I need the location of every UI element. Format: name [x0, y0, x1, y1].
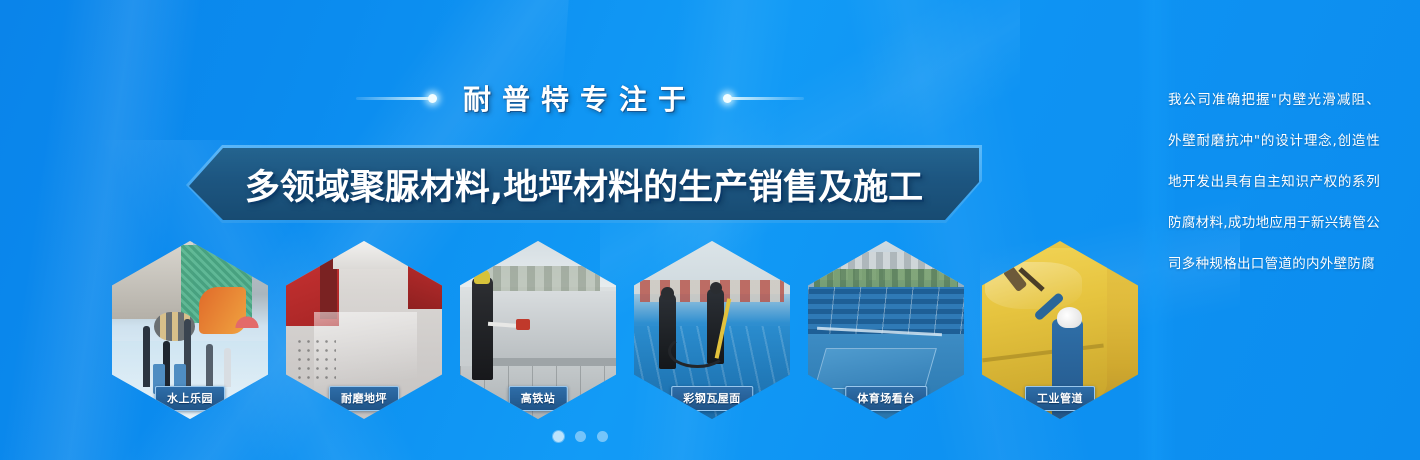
hexagon-item-stadium-seating[interactable]: 体育场看台	[808, 241, 964, 419]
decorative-line-right	[723, 94, 804, 103]
headline-row: 耐普特专注于	[0, 76, 1160, 120]
hexagon-label: 工业管道	[1025, 386, 1095, 411]
hexagon-label: 水上乐园	[155, 386, 225, 411]
decorative-line-left	[356, 94, 437, 103]
carousel-dot-2[interactable]	[575, 431, 586, 442]
carousel-dot-3[interactable]	[597, 431, 608, 442]
headline-text: 耐普特专注于	[463, 78, 697, 118]
hexagon-item-industrial-pipe[interactable]: 工业管道	[982, 241, 1138, 419]
hexagon-label: 高铁站	[509, 386, 568, 411]
hexagon-item-steel-roof[interactable]: 彩钢瓦屋面	[634, 241, 790, 419]
slogan-text: 多领域聚脲材料,地坪材料的生产销售及施工	[189, 148, 979, 220]
hexagon-item-rail-station[interactable]: 高铁站	[460, 241, 616, 419]
decorative-bar-icon	[356, 97, 430, 100]
promo-banner: 耐普特专注于 多领域聚脲材料,地坪材料的生产销售及施工 我公司准确把握"内壁光滑…	[0, 0, 1420, 460]
decorative-dot-icon	[428, 94, 437, 103]
hexagon-item-water-park[interactable]: 水上乐园	[112, 241, 268, 419]
decorative-bar-icon	[730, 97, 804, 100]
carousel-dots	[0, 431, 1160, 442]
hexagon-item-epoxy-floor[interactable]: 耐磨地坪	[286, 241, 442, 419]
hexagon-label: 彩钢瓦屋面	[671, 386, 753, 411]
hexagon-label: 耐磨地坪	[329, 386, 399, 411]
hexagon-gallery: 水上乐园 耐磨地坪 高铁站 彩钢瓦屋面	[112, 241, 1152, 419]
carousel-dot-1[interactable]	[553, 431, 564, 442]
company-description-paragraph: 我公司准确把握"内壁光滑减阻、外壁耐磨抗冲"的设计理念,创造性地开发出具有自主知…	[1168, 80, 1380, 285]
hexagon-label: 体育场看台	[845, 386, 927, 411]
